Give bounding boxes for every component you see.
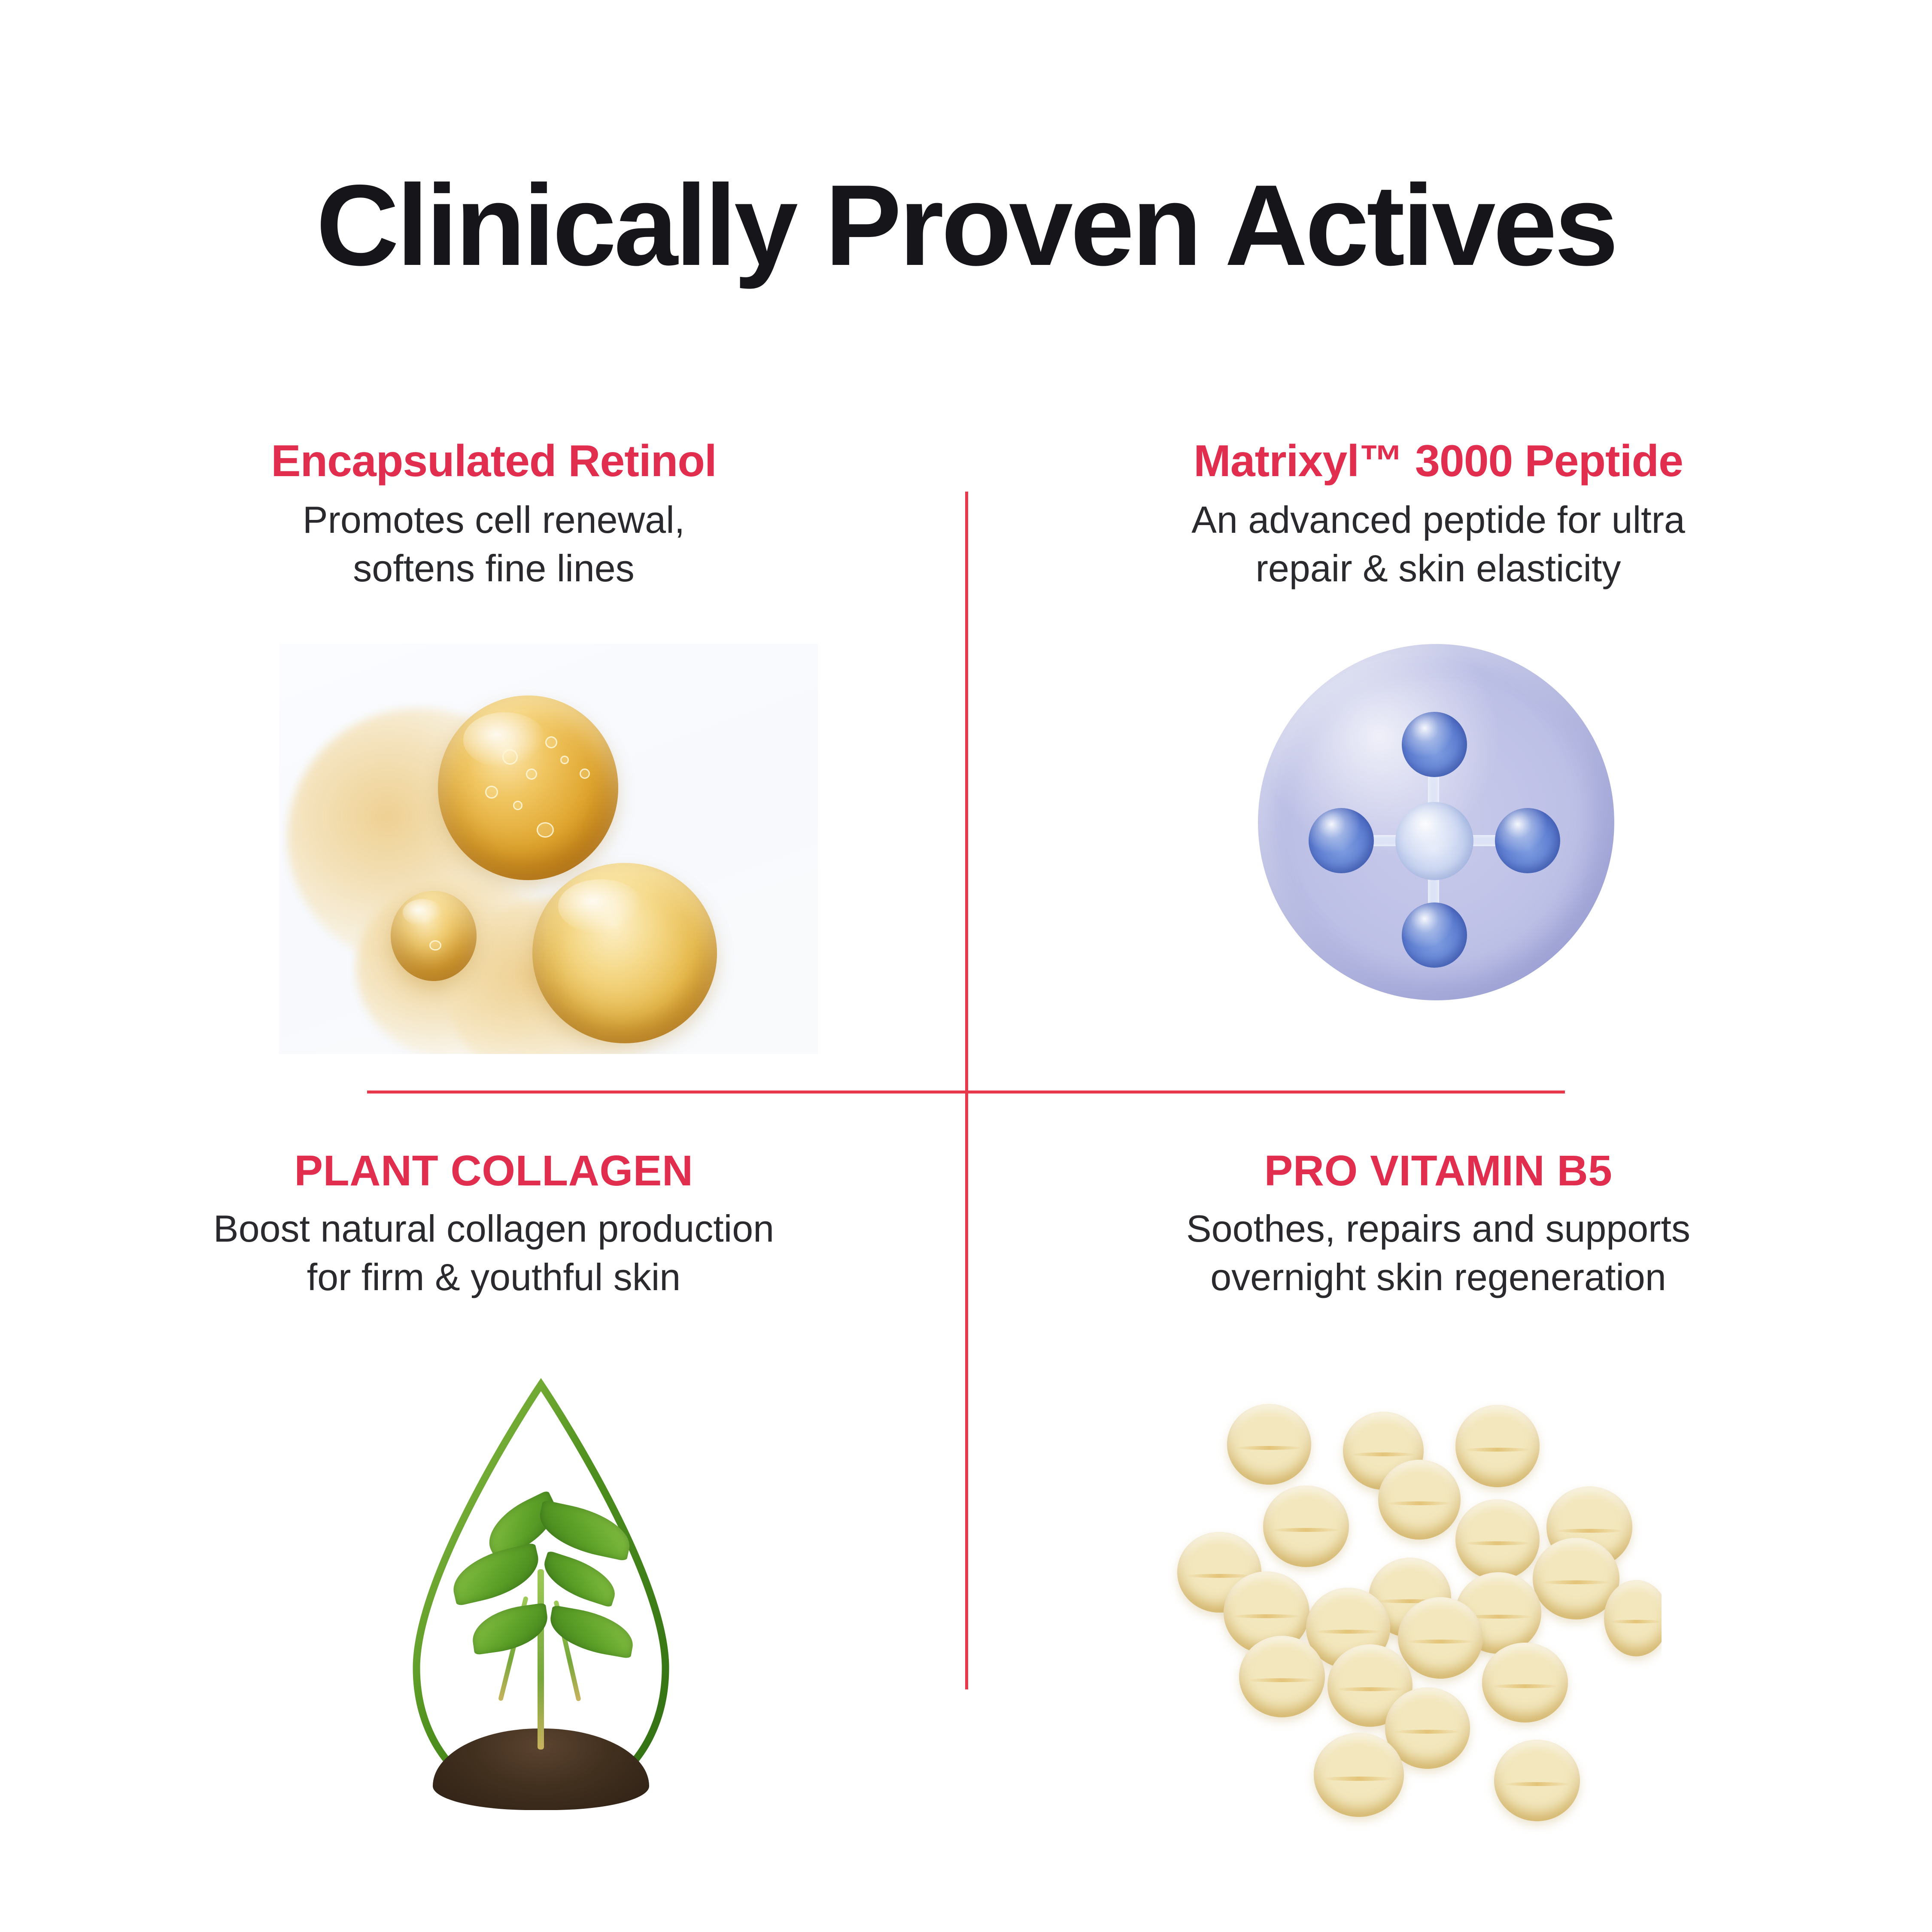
body-line-1: An advanced peptide for ultra [1022, 496, 1855, 544]
molecule-node-left [1309, 808, 1374, 873]
quadrant-heading-retinol: Encapsulated Retinol [77, 438, 910, 485]
quadrant-body-plant-collagen: Boost natural collagen production for fi… [77, 1205, 910, 1301]
body-line-1: Soothes, repairs and supports [1022, 1205, 1855, 1253]
amber-softgel-capsules-photo [1155, 1387, 1662, 1855]
quadrant-heading-peptide: Matrixyl™ 3000 Peptide [1022, 438, 1855, 485]
quadrant-matrixyl-3000-peptide: Matrixyl™ 3000 Peptide An advanced pepti… [1022, 438, 1855, 592]
infographic-canvas: Clinically Proven Actives Encapsulated R… [0, 0, 1932, 1932]
quadrant-body-retinol: Promotes cell renewal, softens fine line… [77, 496, 910, 592]
peptide-molecule-sphere-photo [1254, 640, 1619, 1005]
quadrant-body-pro-vitamin-b5: Soothes, repairs and supports overnight … [1022, 1205, 1855, 1301]
body-line-2: softens fine lines [77, 544, 910, 593]
quadrant-encapsulated-retinol: Encapsulated Retinol Promotes cell renew… [77, 438, 910, 592]
quadrant-heading-pro-vitamin-b5: PRO VITAMIN B5 [1022, 1148, 1855, 1194]
body-line-1: Promotes cell renewal, [77, 496, 910, 544]
divider-horizontal [367, 1091, 1565, 1094]
body-line-2: overnight skin regeneration [1022, 1253, 1855, 1302]
quadrant-plant-collagen: PLANT COLLAGEN Boost natural collagen pr… [77, 1148, 910, 1301]
molecule-node-top [1402, 712, 1467, 777]
quadrant-heading-plant-collagen: PLANT COLLAGEN [77, 1148, 910, 1194]
green-teardrop-seedling-photo [399, 1367, 683, 1829]
amber-oil-droplets-photo [279, 644, 818, 1054]
body-line-2: repair & skin elasticity [1022, 544, 1855, 593]
body-line-1: Boost natural collagen production [77, 1205, 910, 1253]
molecule-node-right [1495, 808, 1560, 873]
quadrant-pro-vitamin-b5: PRO VITAMIN B5 Soothes, repairs and supp… [1022, 1148, 1855, 1301]
molecule-node-center [1395, 802, 1473, 880]
molecule-node-bottom [1402, 902, 1467, 968]
page-title: Clinically Proven Actives [0, 167, 1932, 283]
quadrant-body-peptide: An advanced peptide for ultra repair & s… [1022, 496, 1855, 592]
body-line-2: for firm & youthful skin [77, 1253, 910, 1302]
